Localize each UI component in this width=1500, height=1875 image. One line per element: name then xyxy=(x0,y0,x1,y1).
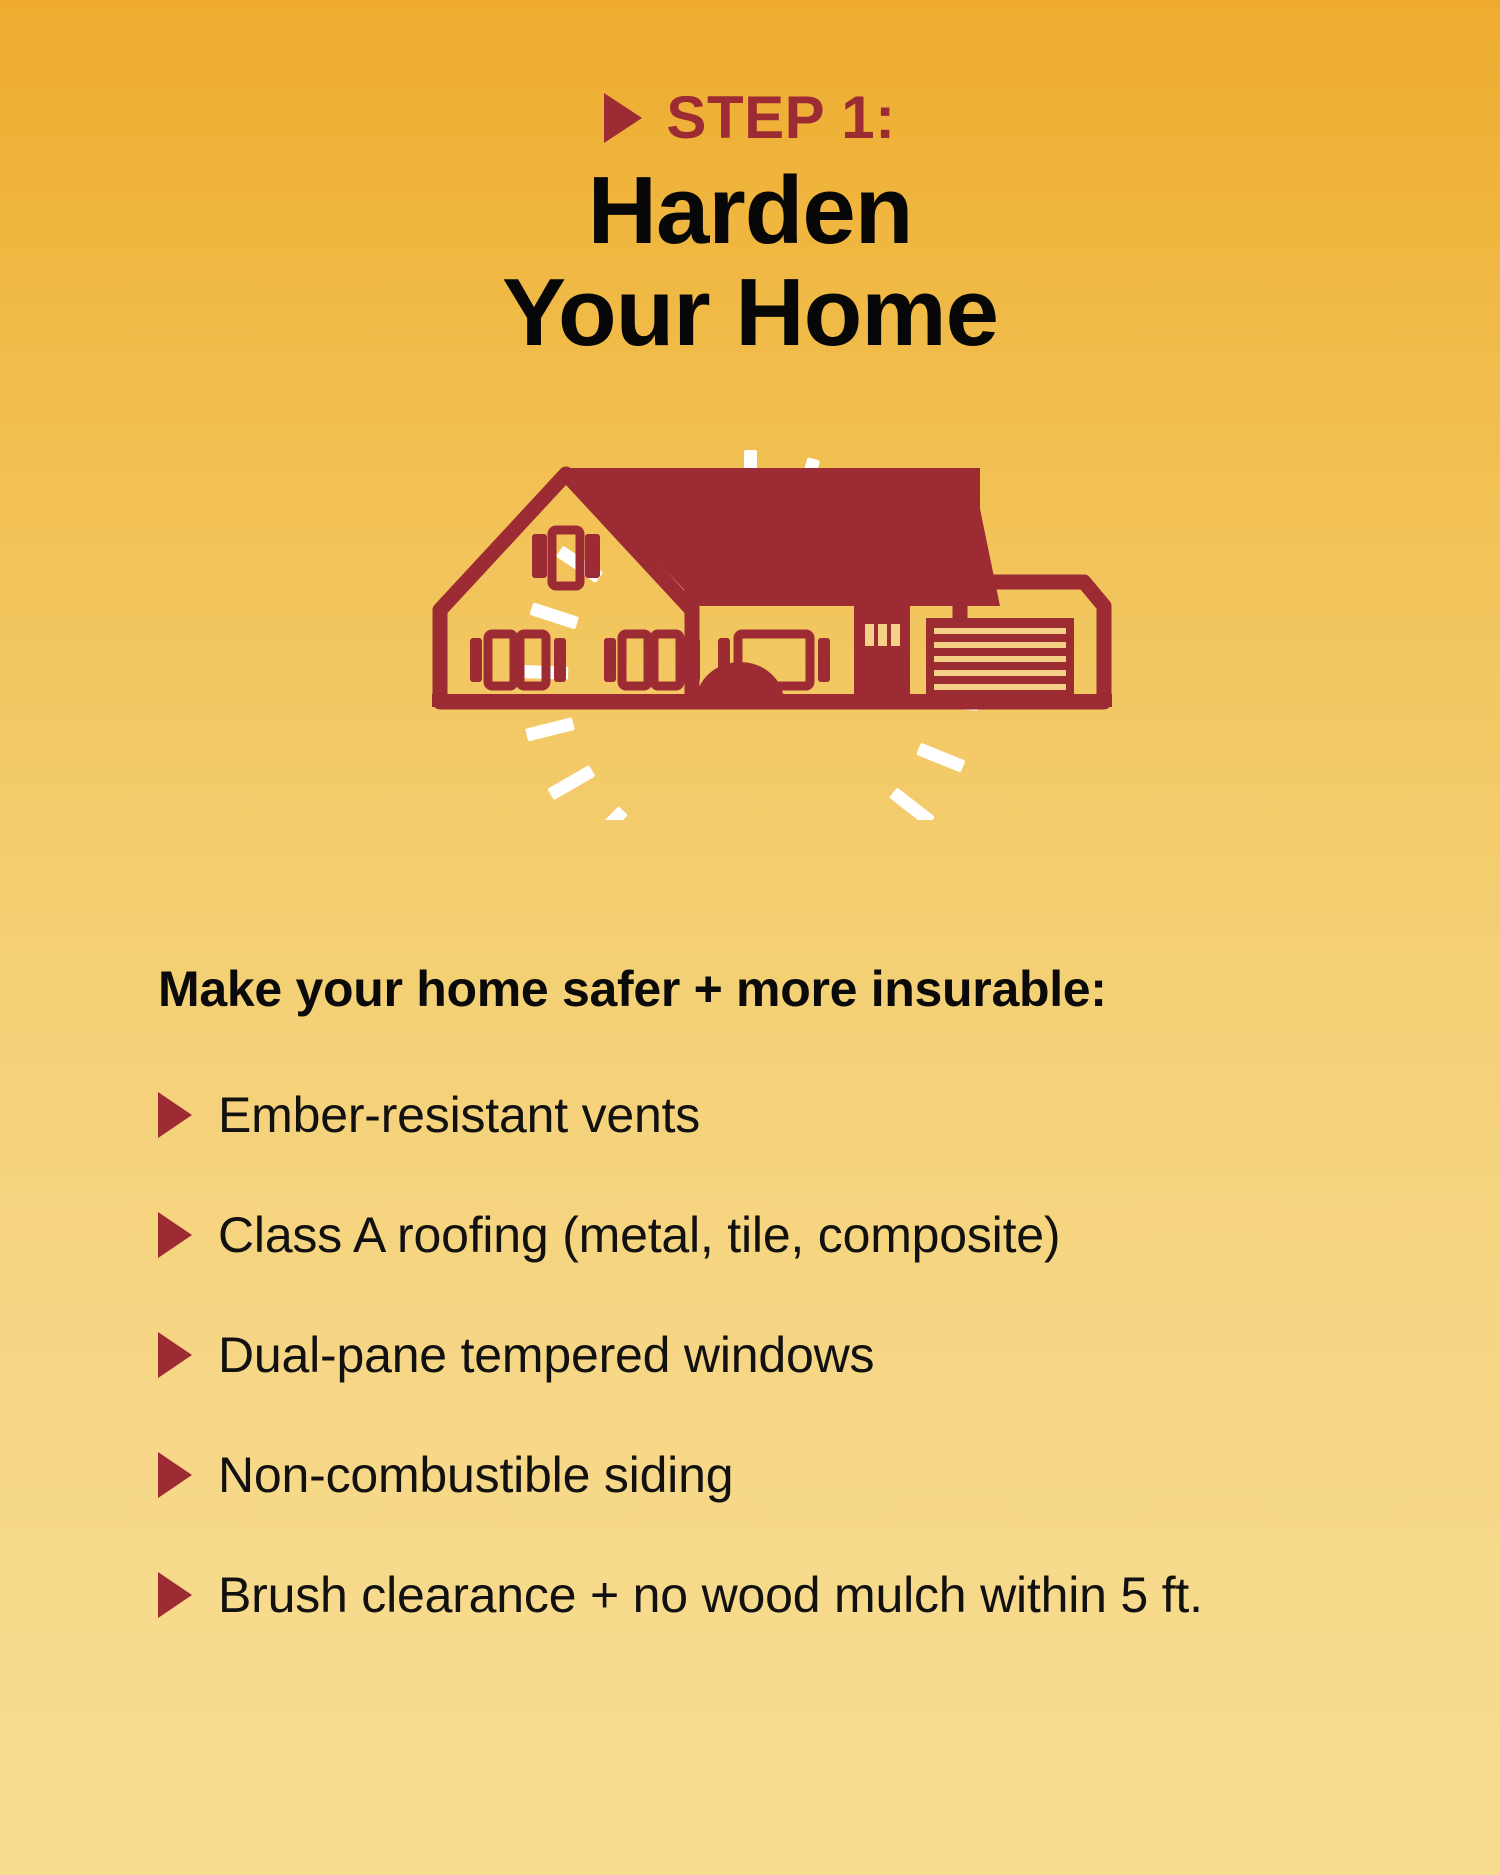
list-item: Class A roofing (metal, tile, composite) xyxy=(158,1175,1388,1295)
triangle-right-icon xyxy=(604,93,642,143)
list-item: Ember-resistant vents xyxy=(158,1055,1388,1175)
step-eyebrow: STEP 1: xyxy=(0,88,1500,148)
triangle-right-icon xyxy=(158,1572,192,1618)
hardened-house-illustration xyxy=(0,430,1500,820)
garage-door xyxy=(926,618,1074,702)
benefits-list: Ember-resistant vents Class A roofing (m… xyxy=(158,1055,1388,1655)
triangle-right-icon xyxy=(158,1332,192,1378)
page-title: Harden Your Home xyxy=(0,160,1500,364)
triangle-right-icon xyxy=(158,1092,192,1138)
lead-heading: Make your home safer + more insurable: xyxy=(158,960,1107,1018)
triangle-right-icon xyxy=(158,1212,192,1258)
list-item-label: Dual-pane tempered windows xyxy=(218,1328,874,1383)
front-windows-with-shutters xyxy=(470,634,700,686)
house-with-rays-icon xyxy=(320,430,1180,820)
triangle-right-icon xyxy=(158,1452,192,1498)
list-item-label: Class A roofing (metal, tile, composite) xyxy=(218,1208,1060,1263)
poster-canvas: STEP 1: Harden Your Home xyxy=(0,0,1500,1875)
title-line-2: Your Home xyxy=(0,262,1500,364)
ground-line xyxy=(432,694,1112,707)
list-item: Brush clearance + no wood mulch within 5… xyxy=(158,1535,1388,1655)
list-item: Dual-pane tempered windows xyxy=(158,1295,1388,1415)
title-line-1: Harden xyxy=(588,157,913,264)
list-item-label: Brush clearance + no wood mulch within 5… xyxy=(218,1568,1203,1623)
list-item-label: Non-combustible siding xyxy=(218,1448,733,1503)
front-door xyxy=(848,606,916,708)
step-label: STEP 1: xyxy=(666,88,895,148)
list-item-label: Ember-resistant vents xyxy=(218,1088,700,1143)
list-item: Non-combustible siding xyxy=(158,1415,1388,1535)
